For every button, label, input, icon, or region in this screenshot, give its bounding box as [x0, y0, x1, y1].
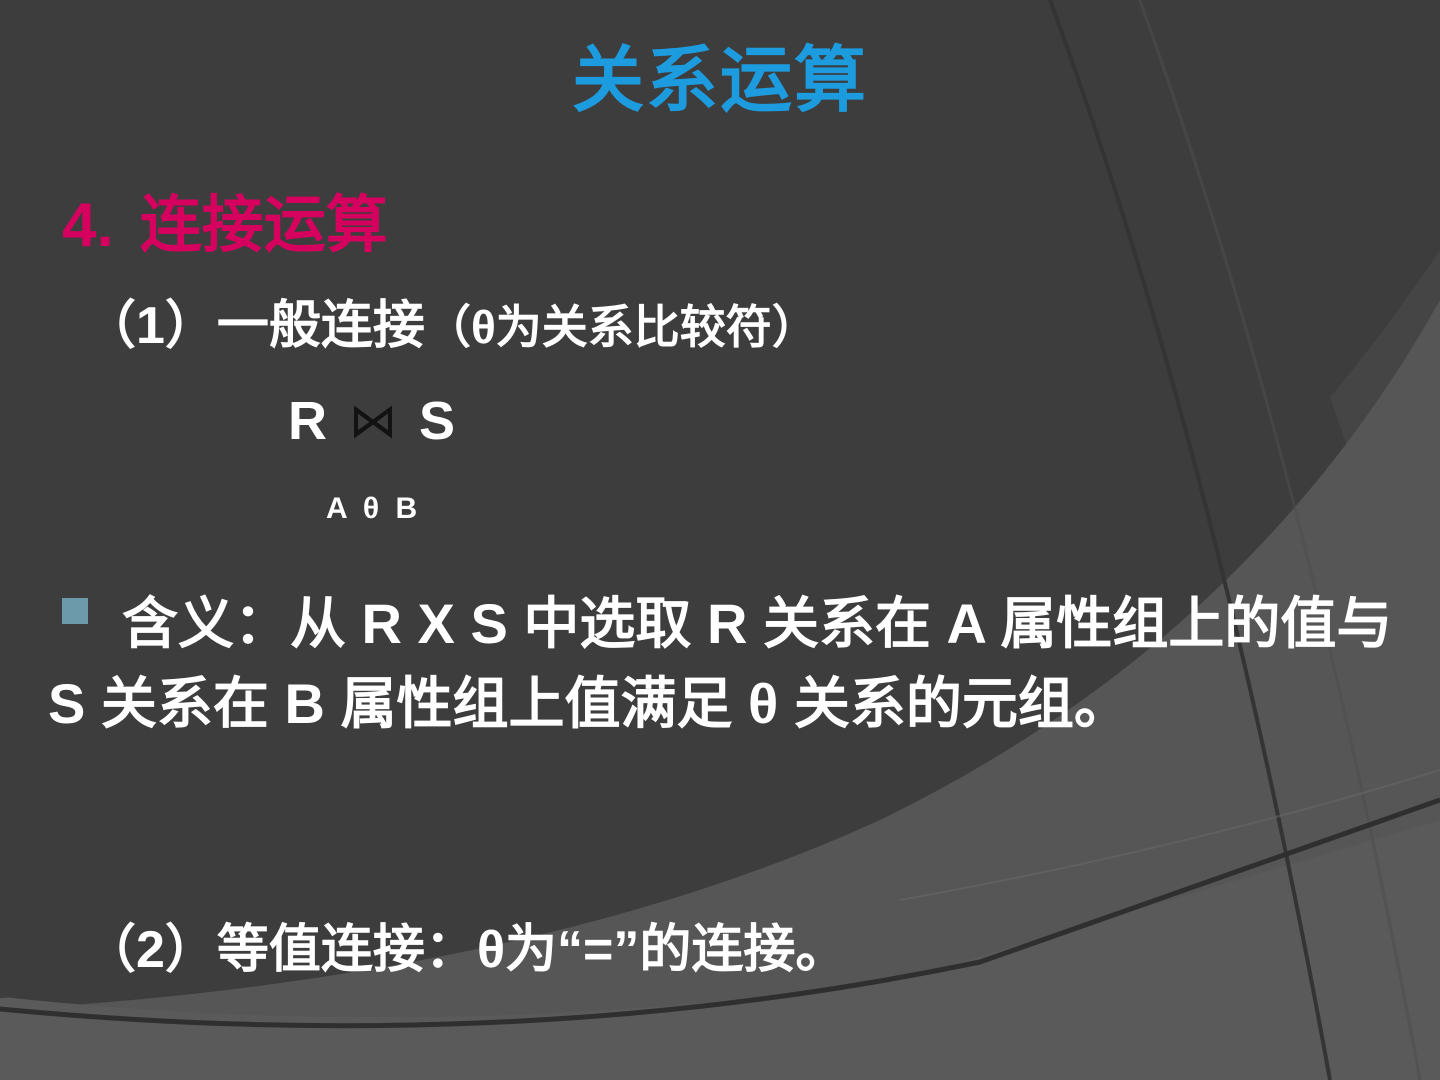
item-2-text: 等值连接：	[217, 921, 477, 979]
formula-left-relation: R	[288, 391, 327, 451]
item-1-line: （1）一般连接（θ为关系比较符）	[84, 298, 818, 355]
meaning-text: 含义：从 R X S 中选取 R 关系在 A 属性组上的值与 S 关系在 B 属…	[48, 584, 1418, 743]
section-heading: 4.连接运算	[62, 192, 388, 260]
item-2-line: （2）等值连接：θ为“=”的连接。	[84, 922, 847, 979]
formula-right-relation: S	[419, 391, 455, 451]
item-1-text: 一般连接	[217, 297, 425, 355]
section-heading-number: 4.	[62, 191, 114, 260]
square-bullet-icon	[62, 598, 88, 624]
item-1-note: （θ为关系比较符）	[425, 301, 818, 353]
item-1-label: （1）	[84, 297, 217, 355]
slide-title: 关系运算	[0, 44, 1440, 120]
section-heading-text: 连接运算	[140, 191, 388, 260]
item-2-label: （2）	[84, 921, 217, 979]
join-formula: R⋈S	[288, 392, 455, 451]
join-formula-subscript: A θ B	[326, 492, 421, 525]
slide-content: 关系运算 4.连接运算 （1）一般连接（θ为关系比较符） R⋈S A θ B 含…	[0, 0, 1440, 1080]
item-2-note: θ为“=”的连接。	[477, 921, 847, 979]
presentation-slide: 关系运算 4.连接运算 （1）一般连接（θ为关系比较符） R⋈S A θ B 含…	[0, 0, 1440, 1080]
join-bowtie-icon: ⋈	[349, 395, 397, 448]
meaning-paragraph: 含义：从 R X S 中选取 R 关系在 A 属性组上的值与 S 关系在 B 属…	[48, 592, 1392, 735]
meaning-bullet-block: 含义：从 R X S 中选取 R 关系在 A 属性组上的值与 S 关系在 B 属…	[48, 584, 1418, 743]
